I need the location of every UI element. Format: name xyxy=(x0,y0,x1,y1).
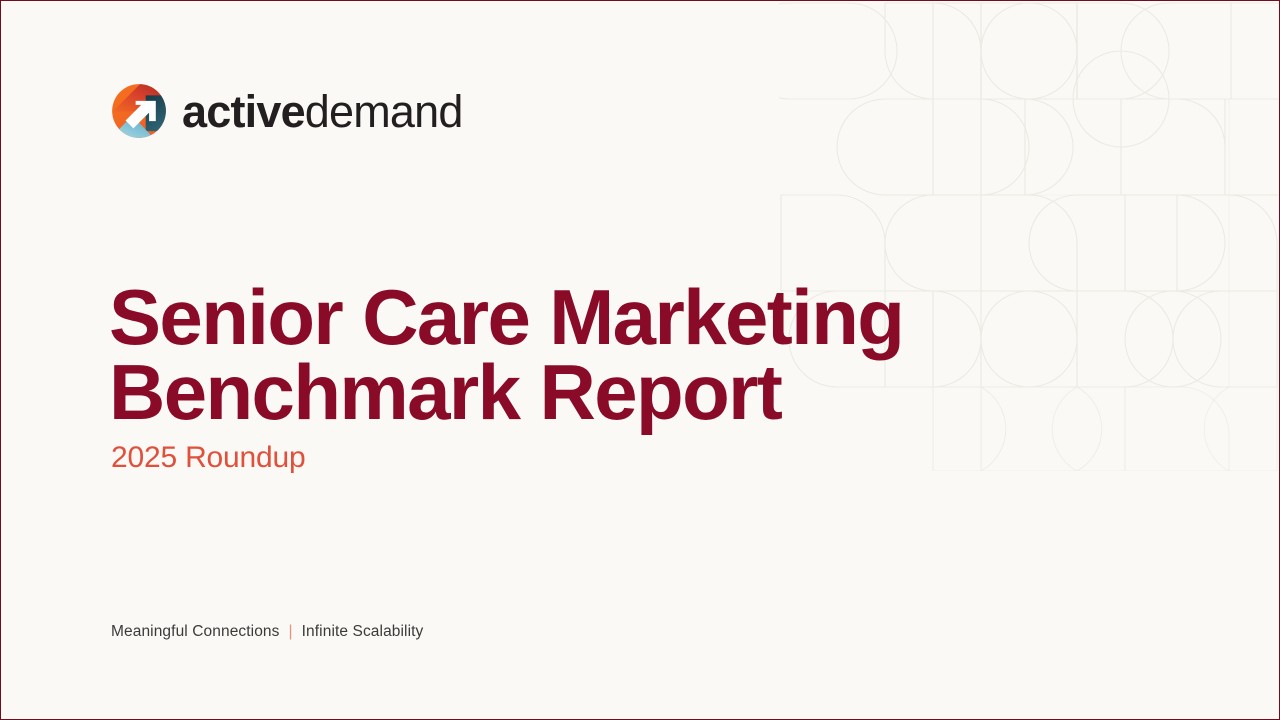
tagline-separator: | xyxy=(289,623,293,641)
activedemand-logo-icon xyxy=(111,83,167,139)
title-slide: activedemand Senior Care Marketing Bench… xyxy=(0,0,1280,720)
brand-logo-lockup[interactable]: activedemand xyxy=(111,83,463,139)
page-subtitle: 2025 Roundup xyxy=(111,441,305,475)
wordmark-demand: demand xyxy=(305,89,463,134)
title-line-2: Benchmark Report xyxy=(109,355,1069,429)
title-line-1: Senior Care Marketing xyxy=(109,280,1069,354)
tagline-right: Infinite Scalability xyxy=(302,623,424,641)
tagline-left: Meaningful Connections xyxy=(111,623,280,641)
page-title: Senior Care Marketing Benchmark Report xyxy=(109,280,1069,428)
brand-wordmark: activedemand xyxy=(182,89,463,134)
footer-tagline: Meaningful Connections | Infinite Scalab… xyxy=(111,623,423,641)
wordmark-active: active xyxy=(182,89,305,134)
